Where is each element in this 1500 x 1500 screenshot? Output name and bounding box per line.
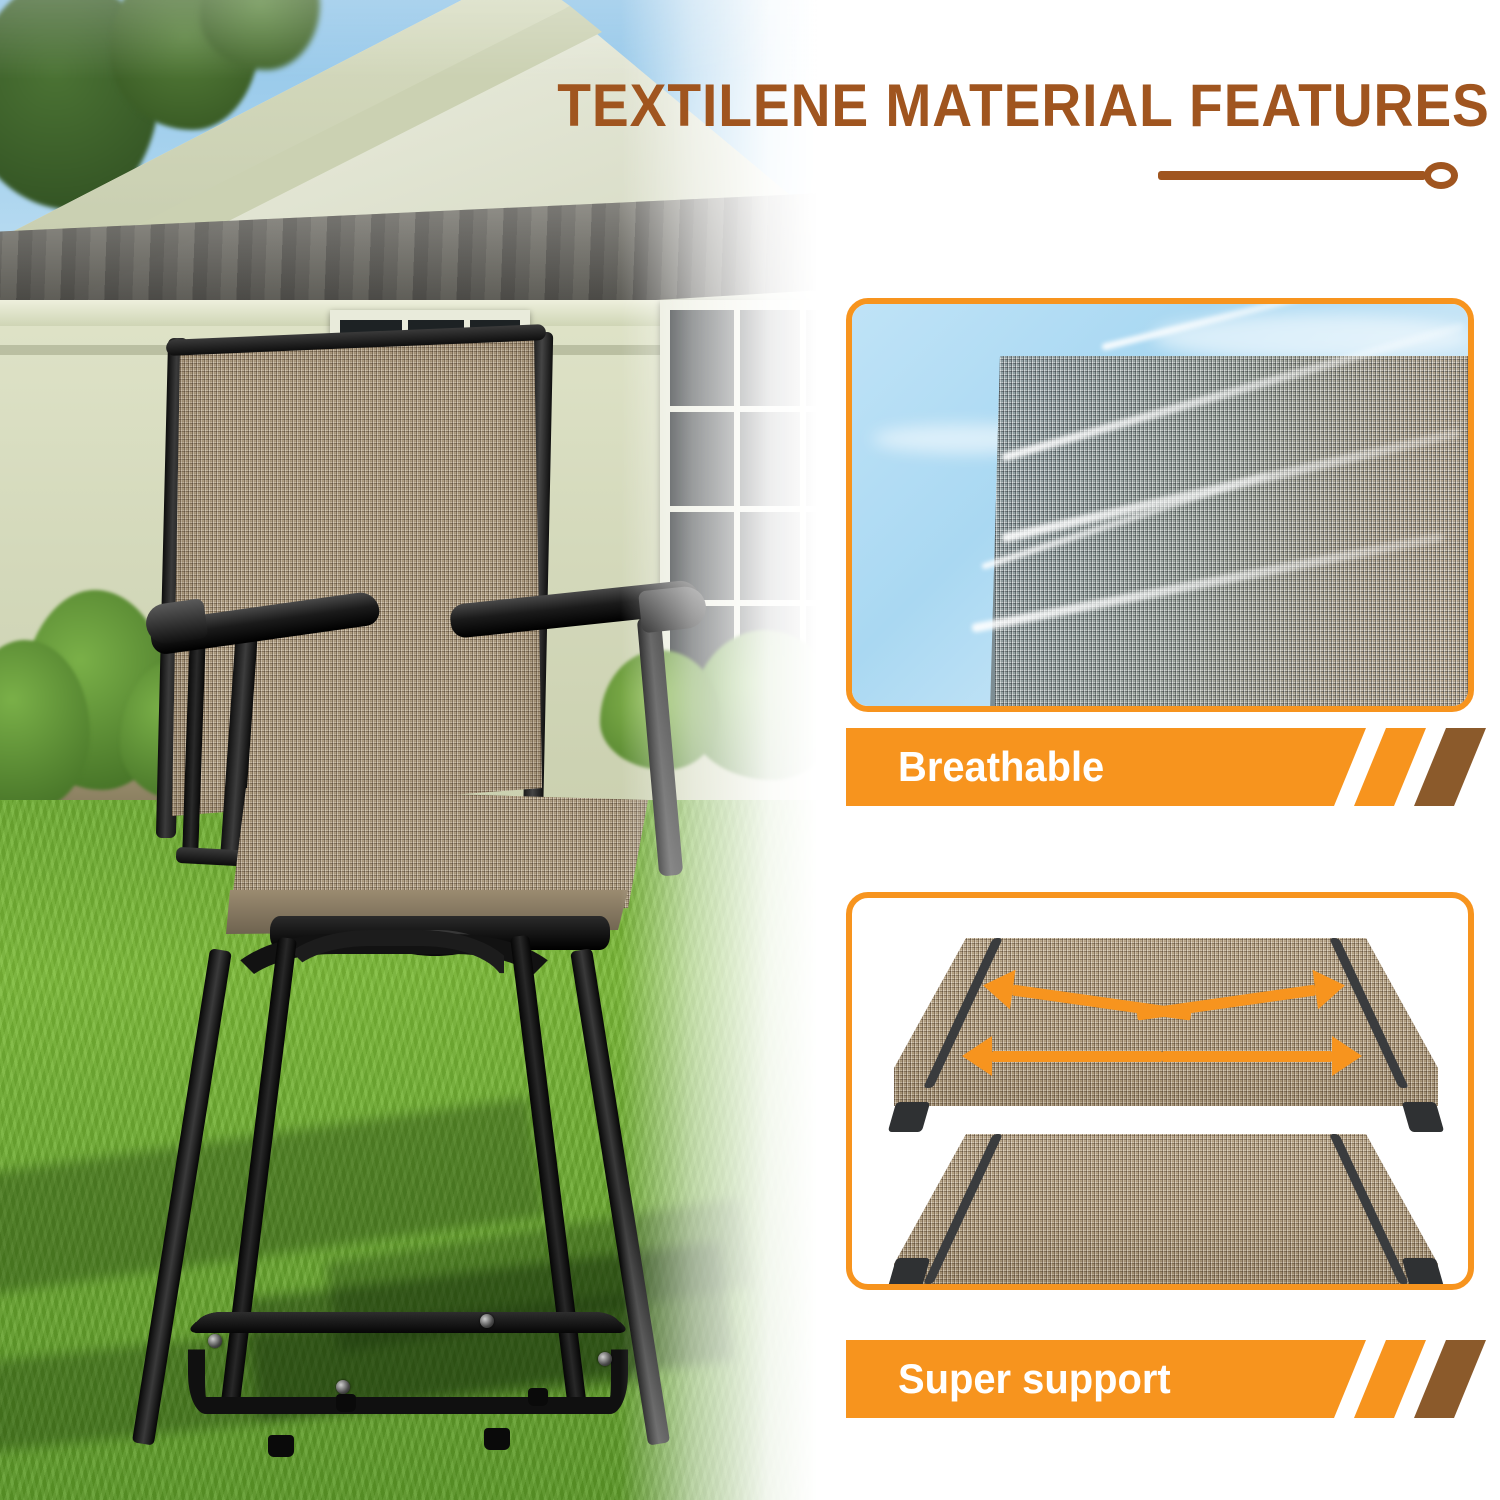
feature-label-banner-breathable: Breathable <box>846 728 1476 806</box>
seat-panel-corner-left <box>888 1102 931 1132</box>
seat-panel-corner-right <box>1402 1102 1445 1132</box>
title-underline-decoration <box>1158 160 1458 190</box>
leg-foot-cap <box>528 1388 548 1406</box>
leg-foot-cap <box>336 1394 356 1412</box>
assembly-screw <box>480 1314 494 1328</box>
banner-chevron-brown <box>1414 1340 1486 1418</box>
page-title: TEXTILENE MATERIAL FEATURES <box>557 72 1468 140</box>
feature-panel-super-support <box>846 892 1474 1290</box>
footrest-ring-top <box>184 1312 632 1333</box>
armrest-left-cap <box>144 598 209 646</box>
hero-product-photo <box>0 0 860 1500</box>
assembly-screw <box>336 1380 350 1394</box>
seat-panel-top <box>894 938 1438 1128</box>
product-feature-infographic: TEXTILENE MATERIAL FEATURES Breathable <box>0 0 1500 1500</box>
seat-panel-surface <box>894 1134 1438 1284</box>
leg-foot-cap <box>484 1428 510 1450</box>
backlit-mesh-fabric <box>990 356 1474 712</box>
underline-bar <box>1158 171 1426 180</box>
feature-label-breathable: Breathable <box>898 728 1104 806</box>
assembly-screw <box>208 1334 222 1348</box>
banner-chevron-brown <box>1414 728 1486 806</box>
photo-fade-overlay <box>620 0 860 1500</box>
feature-label-banner-super-support: Super support <box>846 1340 1476 1418</box>
leg-foot-cap <box>268 1435 294 1457</box>
seat-panel-corner-right <box>1402 1258 1445 1288</box>
banner-chevron-orange <box>1354 728 1426 806</box>
feature-label-super-support: Super support <box>898 1340 1171 1418</box>
seat-panel-surface <box>894 938 1438 1128</box>
feature-panel-breathable <box>846 298 1474 712</box>
seat-panel-bottom <box>894 1134 1438 1284</box>
banner-chevron-orange <box>1354 1340 1426 1418</box>
underline-ring-icon <box>1424 162 1458 189</box>
assembly-screw <box>598 1352 612 1366</box>
